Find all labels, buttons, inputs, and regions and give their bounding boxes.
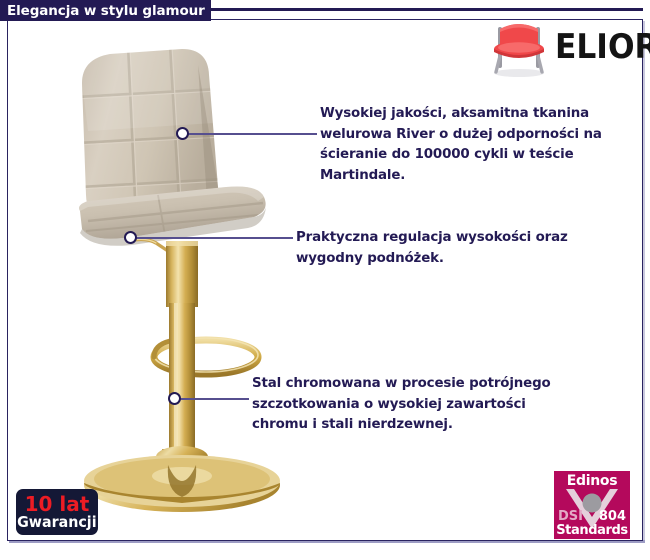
certification-code-prefix: DSI — [558, 509, 583, 524]
warranty-badge: 10 lat Gwarancji — [16, 489, 98, 535]
infographic-page: Elegancja w stylu glamour ELIOR — [0, 0, 650, 560]
callout-dot-height — [124, 231, 137, 244]
callout-dot-steel — [168, 392, 181, 405]
callout-line-steel — [179, 398, 249, 400]
warranty-label: Gwarancji — [17, 515, 96, 530]
certification-title: Edinos — [554, 473, 630, 489]
callout-line-fabric — [187, 133, 317, 135]
callout-text-steel: Stal chromowana w procesie potrójnego sz… — [252, 374, 582, 436]
callout-text-fabric: Wysokiej jakości, aksamitna tkanina welu… — [320, 104, 610, 186]
certification-subtitle: Standards — [554, 523, 630, 538]
page-title: Elegancja w stylu glamour — [7, 3, 205, 19]
warranty-years: 10 lat — [25, 494, 90, 514]
header-rule — [211, 8, 643, 11]
brand-name: ELIOR — [555, 28, 650, 66]
header-banner: Elegancja w stylu glamour — [0, 0, 211, 21]
frame-shadow-right — [643, 21, 645, 542]
certification-badge: Edinos DSI 804 Standards — [554, 471, 630, 539]
red-chair-icon — [487, 18, 551, 80]
callout-text-height: Praktyczna regulacja wysokości oraz wygo… — [296, 228, 586, 269]
certification-code-number: 804 — [599, 509, 626, 524]
product-image-bar-stool — [58, 45, 298, 515]
callout-line-height — [135, 237, 293, 239]
callout-dot-fabric — [176, 127, 189, 140]
brand-logo: ELIOR — [487, 18, 637, 80]
